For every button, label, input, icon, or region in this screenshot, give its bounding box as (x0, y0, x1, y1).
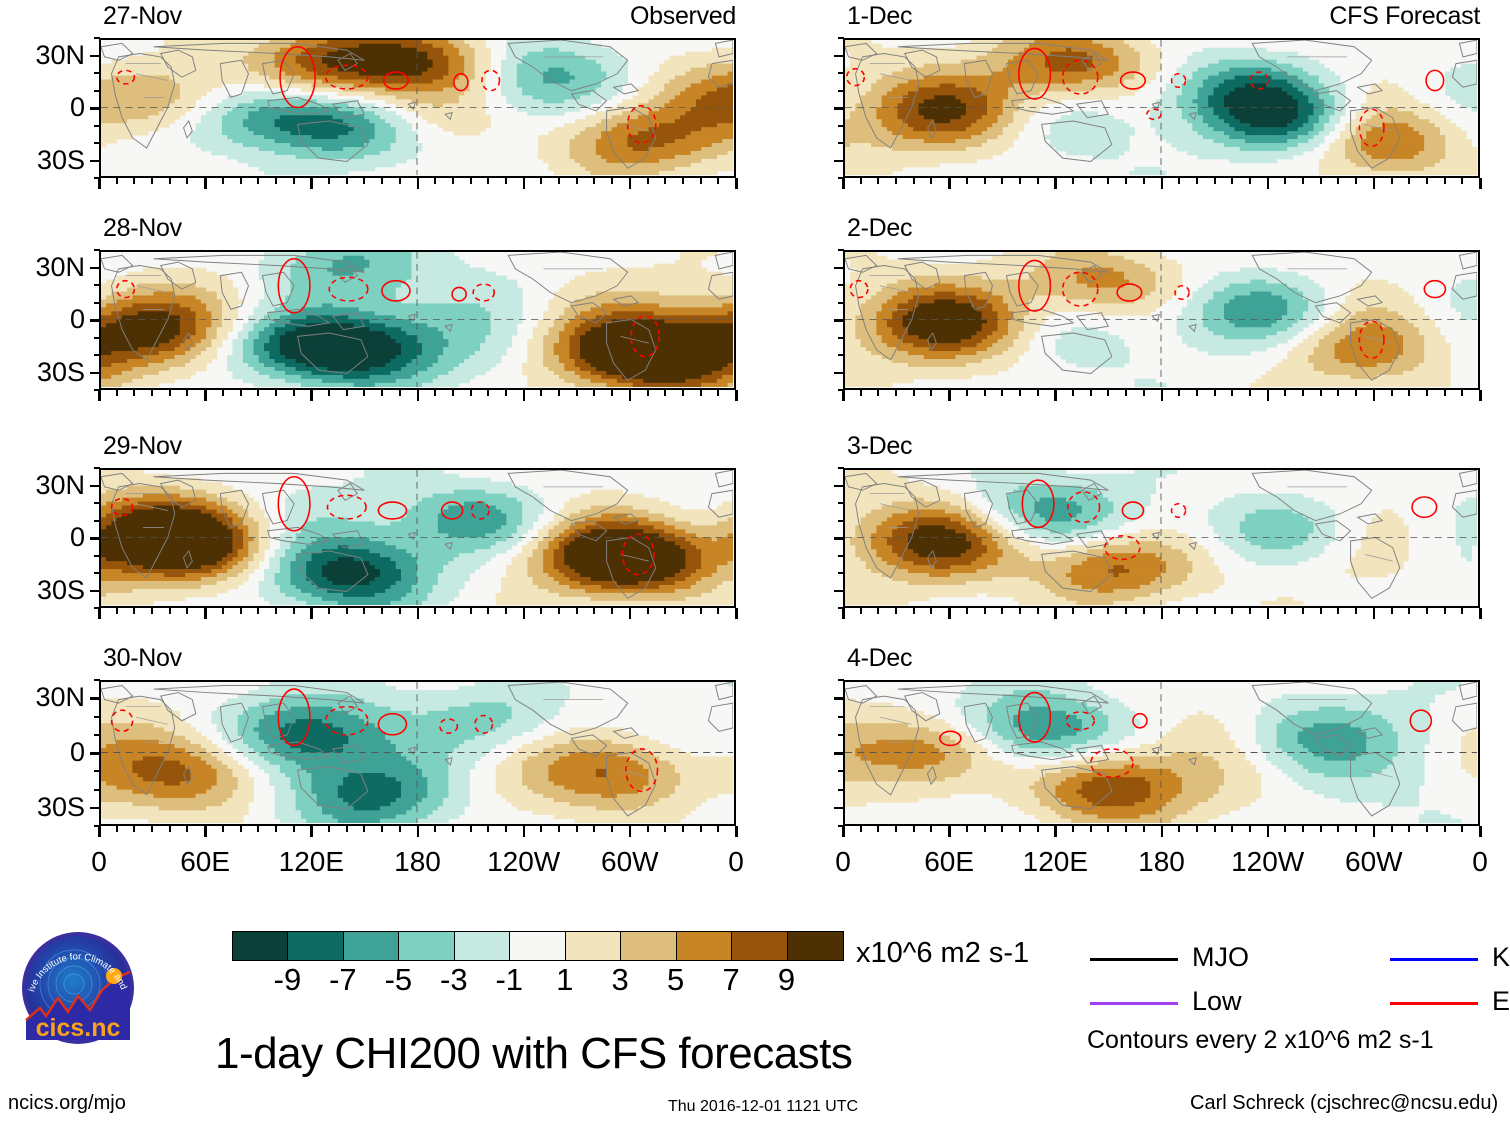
x-minor-tick (540, 608, 542, 614)
x-major-tick (1054, 390, 1057, 401)
legend-label-low: Low (1192, 988, 1242, 1015)
y-tick (834, 372, 844, 375)
y-tick (90, 752, 100, 755)
x-major-tick (948, 390, 951, 401)
x-minor-tick (877, 178, 879, 184)
x-minor-tick (1196, 608, 1198, 614)
x-major-tick (948, 826, 951, 837)
x-minor-tick (1391, 826, 1393, 832)
panel-date-label: 28-Nov (103, 216, 182, 241)
x-minor-tick (647, 178, 649, 184)
x-minor-tick (647, 826, 649, 832)
y-tick (834, 160, 844, 163)
legend-label-er: ER (1492, 988, 1510, 1015)
x-minor-tick (877, 608, 879, 614)
x-minor-tick (1001, 608, 1003, 614)
x-minor-tick (576, 608, 578, 614)
x-major-tick (204, 608, 207, 619)
x-major-tick (417, 390, 420, 401)
x-minor-tick (1001, 390, 1003, 396)
x-major-tick (417, 178, 420, 189)
x-minor-tick (1408, 390, 1410, 396)
x-minor-tick (363, 826, 365, 832)
chi200-anomaly-field (845, 470, 1477, 605)
x-minor-tick (1178, 826, 1180, 832)
map-field (101, 470, 734, 606)
y-minor-tick (94, 679, 100, 681)
panel-date-label: 2-Dec (847, 216, 912, 241)
x-minor-tick (399, 608, 401, 614)
x-major-tick (523, 390, 526, 401)
y-minor-tick (94, 555, 100, 557)
x-minor-tick (860, 390, 862, 396)
x-axis-label: 120W (1208, 848, 1328, 876)
x-minor-tick (1461, 390, 1463, 396)
x-minor-tick (558, 178, 560, 184)
x-minor-tick (346, 826, 348, 832)
x-minor-tick (452, 390, 454, 396)
x-minor-tick (966, 390, 968, 396)
y-tick (834, 107, 844, 110)
x-minor-tick (116, 826, 118, 832)
chi200-anomaly-field (101, 682, 733, 823)
x-minor-tick (452, 608, 454, 614)
map-panel (843, 250, 1480, 390)
x-minor-tick (151, 608, 153, 614)
y-axis-label-0: 0 (3, 306, 85, 333)
y-tick (834, 752, 844, 755)
x-minor-tick (1355, 178, 1357, 184)
x-major-tick (523, 826, 526, 837)
x-minor-tick (682, 178, 684, 184)
y-minor-tick (838, 572, 844, 574)
panel-1-dec: 1-DecCFS Forecast (843, 4, 1480, 178)
x-minor-tick (1337, 178, 1339, 184)
x-minor-tick (505, 178, 507, 184)
x-major-tick (948, 178, 951, 189)
x-minor-tick (1249, 826, 1251, 832)
x-minor-tick (363, 390, 365, 396)
x-minor-tick (611, 608, 613, 614)
legend-line-er (1390, 1002, 1478, 1005)
x-minor-tick (381, 608, 383, 614)
x-minor-tick (1391, 178, 1393, 184)
panel-date-label: 29-Nov (103, 434, 182, 459)
x-minor-tick (984, 178, 986, 184)
y-minor-tick (838, 679, 844, 681)
x-major-tick (629, 178, 632, 189)
panel-2-dec: 2-Dec (843, 216, 1480, 390)
colorbar-swatch-4 (455, 932, 510, 960)
x-minor-tick (1090, 826, 1092, 832)
x-minor-tick (540, 826, 542, 832)
chi200-anomaly-field (845, 682, 1477, 823)
x-major-tick (310, 826, 313, 837)
y-tick (834, 319, 844, 322)
x-minor-tick (1214, 390, 1216, 396)
map-field (845, 40, 1478, 176)
x-minor-tick (1125, 826, 1127, 832)
x-major-tick (1054, 826, 1057, 837)
y-minor-tick (94, 716, 100, 718)
x-minor-tick (1337, 608, 1339, 614)
map-panel (99, 38, 736, 178)
x-major-tick (842, 608, 845, 619)
x-minor-tick (1302, 826, 1304, 832)
x-minor-tick (452, 826, 454, 832)
x-minor-tick (1408, 608, 1410, 614)
x-minor-tick (1284, 178, 1286, 184)
map-field (845, 470, 1478, 606)
x-minor-tick (1461, 178, 1463, 184)
x-minor-tick (540, 390, 542, 396)
x-minor-tick (1143, 826, 1145, 832)
x-major-tick (629, 826, 632, 837)
x-major-tick (98, 826, 101, 837)
x-minor-tick (1284, 826, 1286, 832)
x-minor-tick (984, 826, 986, 832)
x-minor-tick (1037, 826, 1039, 832)
x-minor-tick (257, 608, 259, 614)
y-tick (834, 537, 844, 540)
x-minor-tick (346, 390, 348, 396)
x-minor-tick (647, 390, 649, 396)
x-minor-tick (186, 390, 188, 396)
x-major-tick (417, 826, 420, 837)
x-major-tick (523, 178, 526, 189)
colorbar-units-label: x10^6 m2 s-1 (856, 939, 1029, 968)
x-major-tick (1479, 826, 1482, 837)
y-tick (834, 590, 844, 593)
x-minor-tick (222, 608, 224, 614)
x-major-tick (1267, 608, 1270, 619)
x-minor-tick (116, 608, 118, 614)
x-minor-tick (240, 608, 242, 614)
x-minor-tick (1196, 178, 1198, 184)
y-tick (834, 697, 844, 700)
x-minor-tick (328, 178, 330, 184)
x-minor-tick (1196, 826, 1198, 832)
chi200-anomaly-field (101, 40, 733, 175)
x-minor-tick (275, 826, 277, 832)
x-minor-tick (328, 608, 330, 614)
y-minor-tick (94, 467, 100, 469)
y-axis-label-30s: 30S (3, 359, 85, 386)
x-major-tick (1373, 608, 1376, 619)
x-minor-tick (487, 608, 489, 614)
x-minor-tick (240, 178, 242, 184)
map-panel (99, 250, 736, 390)
x-minor-tick (1072, 826, 1074, 832)
x-minor-tick (1355, 826, 1357, 832)
x-major-tick (310, 390, 313, 401)
x-minor-tick (700, 390, 702, 396)
x-minor-tick (1231, 390, 1233, 396)
x-major-tick (1054, 178, 1057, 189)
x-minor-tick (1178, 178, 1180, 184)
x-minor-tick (257, 826, 259, 832)
x-minor-tick (1355, 608, 1357, 614)
x-minor-tick (1125, 390, 1127, 396)
x-minor-tick (293, 390, 295, 396)
x-minor-tick (895, 178, 897, 184)
x-minor-tick (1444, 608, 1446, 614)
x-minor-tick (151, 826, 153, 832)
x-minor-tick (860, 826, 862, 832)
x-major-tick (1161, 178, 1164, 189)
x-axis-label: 60E (145, 848, 265, 876)
x-minor-tick (1037, 178, 1039, 184)
x-major-tick (1479, 178, 1482, 189)
y-tick (90, 807, 100, 810)
x-major-tick (1267, 826, 1270, 837)
x-minor-tick (1461, 608, 1463, 614)
x-minor-tick (1461, 826, 1463, 832)
x-major-tick (1373, 826, 1376, 837)
x-major-tick (1373, 178, 1376, 189)
x-minor-tick (1019, 178, 1021, 184)
x-major-tick (1267, 390, 1270, 401)
x-major-tick (735, 608, 738, 619)
x-minor-tick (399, 826, 401, 832)
x-minor-tick (1125, 178, 1127, 184)
x-minor-tick (700, 178, 702, 184)
x-minor-tick (1302, 390, 1304, 396)
legend-line-low (1090, 1002, 1178, 1005)
x-minor-tick (664, 390, 666, 396)
x-minor-tick (133, 178, 135, 184)
y-minor-tick (838, 125, 844, 127)
x-minor-tick (877, 390, 879, 396)
x-minor-tick (1001, 826, 1003, 832)
y-axis-label-30s: 30S (3, 577, 85, 604)
y-minor-tick (94, 502, 100, 504)
y-minor-tick (94, 302, 100, 304)
y-minor-tick (838, 142, 844, 144)
x-minor-tick (434, 178, 436, 184)
map-field (101, 40, 734, 176)
x-major-tick (1267, 178, 1270, 189)
y-minor-tick (94, 37, 100, 39)
x-minor-tick (593, 826, 595, 832)
x-minor-tick (1320, 826, 1322, 832)
cics-logo-icon: Cooperative Institute for Climate and Sa… (18, 928, 138, 1048)
x-minor-tick (984, 390, 986, 396)
x-minor-tick (346, 178, 348, 184)
x-minor-tick (1231, 608, 1233, 614)
y-minor-tick (838, 770, 844, 772)
x-minor-tick (487, 390, 489, 396)
y-axis-label-30n: 30N (3, 472, 85, 499)
footer-author-contact: Carl Schreck (cjschrec@ncsu.edu) (1190, 1093, 1498, 1113)
chi200-anomaly-field (845, 40, 1477, 175)
x-minor-tick (257, 178, 259, 184)
y-minor-tick (838, 716, 844, 718)
x-minor-tick (275, 608, 277, 614)
x-minor-tick (717, 608, 719, 614)
column-heading: CFS Forecast (1329, 4, 1480, 29)
x-minor-tick (1072, 390, 1074, 396)
x-minor-tick (1249, 390, 1251, 396)
y-axis-label-30n: 30N (3, 42, 85, 69)
x-minor-tick (293, 608, 295, 614)
x-minor-tick (1143, 178, 1145, 184)
x-axis-label: 180 (1102, 848, 1222, 876)
x-minor-tick (1107, 826, 1109, 832)
x-major-tick (1161, 826, 1164, 837)
x-minor-tick (1214, 826, 1216, 832)
x-minor-tick (222, 390, 224, 396)
legend-line-mjo (1090, 958, 1178, 961)
x-minor-tick (1320, 608, 1322, 614)
x-minor-tick (240, 390, 242, 396)
x-axis-label: 60E (889, 848, 1009, 876)
y-tick (90, 697, 100, 700)
y-minor-tick (838, 555, 844, 557)
x-major-tick (842, 178, 845, 189)
x-minor-tick (1426, 608, 1428, 614)
x-minor-tick (1337, 826, 1339, 832)
x-axis-label: 120W (464, 848, 584, 876)
x-axis-label: 0 (676, 848, 796, 876)
map-panel (843, 38, 1480, 178)
x-major-tick (310, 608, 313, 619)
y-minor-tick (838, 302, 844, 304)
x-minor-tick (984, 608, 986, 614)
x-minor-tick (966, 826, 968, 832)
map-field (845, 252, 1478, 388)
x-minor-tick (363, 608, 365, 614)
x-minor-tick (434, 826, 436, 832)
x-minor-tick (611, 178, 613, 184)
x-minor-tick (1090, 608, 1092, 614)
x-minor-tick (1337, 390, 1339, 396)
y-minor-tick (838, 284, 844, 286)
x-minor-tick (1284, 390, 1286, 396)
y-tick (90, 267, 100, 270)
main-title: 1-day CHI200 with CFS forecasts (215, 1032, 852, 1076)
y-minor-tick (94, 90, 100, 92)
x-minor-tick (1302, 608, 1304, 614)
legend-label-kelvin-x2: Kelvin x2 (1492, 944, 1510, 971)
x-major-tick (629, 608, 632, 619)
x-minor-tick (895, 390, 897, 396)
x-minor-tick (682, 608, 684, 614)
y-minor-tick (94, 125, 100, 127)
x-minor-tick (1107, 390, 1109, 396)
panel-27-nov: 27-NovObserved (99, 4, 736, 178)
map-field (101, 252, 734, 388)
x-minor-tick (1444, 826, 1446, 832)
x-minor-tick (328, 826, 330, 832)
x-minor-tick (1143, 390, 1145, 396)
y-minor-tick (838, 72, 844, 74)
x-minor-tick (1143, 608, 1145, 614)
x-minor-tick (275, 178, 277, 184)
panel-4-dec: 4-Dec (843, 646, 1480, 826)
panel-3-dec: 3-Dec (843, 434, 1480, 608)
x-axis-label: 120E (251, 848, 371, 876)
map-field (845, 682, 1478, 824)
x-minor-tick (151, 390, 153, 396)
x-minor-tick (1214, 178, 1216, 184)
map-panel (99, 680, 736, 826)
x-minor-tick (877, 826, 879, 832)
x-minor-tick (470, 826, 472, 832)
x-minor-tick (275, 390, 277, 396)
y-axis-label-0: 0 (3, 524, 85, 551)
x-minor-tick (930, 178, 932, 184)
x-minor-tick (169, 608, 171, 614)
x-minor-tick (895, 608, 897, 614)
x-minor-tick (1231, 826, 1233, 832)
x-minor-tick (381, 178, 383, 184)
y-minor-tick (94, 72, 100, 74)
x-minor-tick (860, 608, 862, 614)
x-minor-tick (505, 608, 507, 614)
x-minor-tick (593, 178, 595, 184)
x-minor-tick (222, 826, 224, 832)
x-minor-tick (257, 390, 259, 396)
y-tick (834, 55, 844, 58)
x-major-tick (842, 390, 845, 401)
x-minor-tick (186, 826, 188, 832)
footer-site-link[interactable]: ncics.org/mjo (8, 1093, 126, 1113)
y-minor-tick (94, 337, 100, 339)
y-minor-tick (94, 789, 100, 791)
x-minor-tick (913, 390, 915, 396)
x-minor-tick (930, 608, 932, 614)
x-major-tick (1161, 390, 1164, 401)
chi200-anomaly-field (101, 252, 733, 387)
x-minor-tick (966, 608, 968, 614)
y-minor-tick (94, 142, 100, 144)
x-minor-tick (717, 390, 719, 396)
x-minor-tick (1037, 390, 1039, 396)
y-minor-tick (838, 502, 844, 504)
x-minor-tick (399, 390, 401, 396)
x-minor-tick (452, 178, 454, 184)
y-tick (90, 107, 100, 110)
map-panel (843, 680, 1480, 826)
y-axis-label-30s: 30S (3, 147, 85, 174)
x-minor-tick (186, 608, 188, 614)
x-minor-tick (1090, 390, 1092, 396)
x-minor-tick (1249, 608, 1251, 614)
x-minor-tick (169, 390, 171, 396)
x-axis-label: 60W (1314, 848, 1434, 876)
y-minor-tick (838, 249, 844, 251)
x-minor-tick (169, 178, 171, 184)
x-major-tick (417, 608, 420, 619)
x-minor-tick (1426, 390, 1428, 396)
x-minor-tick (1302, 178, 1304, 184)
x-minor-tick (593, 390, 595, 396)
x-major-tick (204, 826, 207, 837)
x-minor-tick (1090, 178, 1092, 184)
x-minor-tick (346, 608, 348, 614)
x-minor-tick (558, 826, 560, 832)
panel-date-label: 1-Dec (847, 4, 912, 29)
x-major-tick (523, 608, 526, 619)
y-minor-tick (838, 354, 844, 356)
y-minor-tick (838, 520, 844, 522)
x-minor-tick (611, 826, 613, 832)
x-major-tick (98, 608, 101, 619)
x-major-tick (1373, 390, 1376, 401)
y-tick (834, 267, 844, 270)
x-minor-tick (169, 826, 171, 832)
